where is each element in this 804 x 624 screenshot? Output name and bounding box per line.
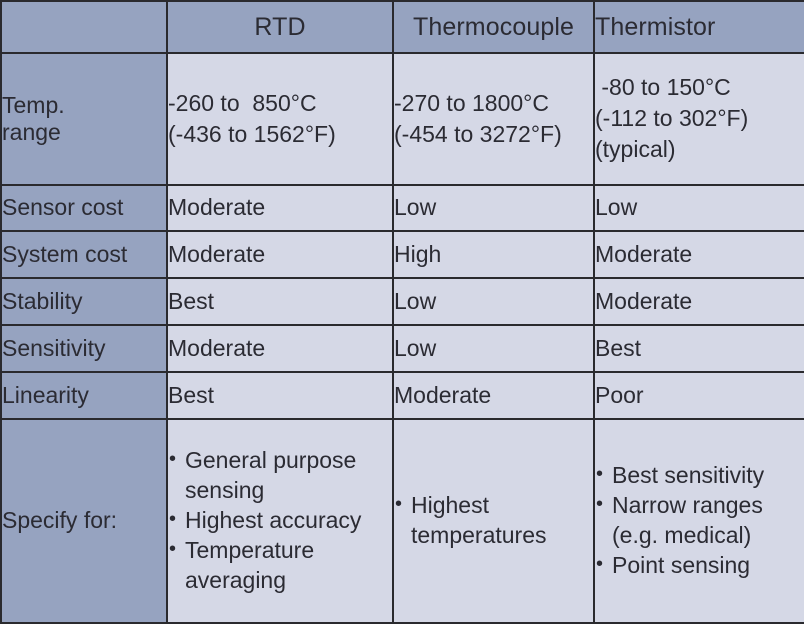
row-label-system-cost: System cost xyxy=(1,231,167,278)
table-row-specify-for: Specify for: General purpose sensingHigh… xyxy=(1,419,804,623)
bullet-item: Highest accuracy xyxy=(168,506,392,536)
table-row-linearity: Linearity Best Moderate Poor xyxy=(1,372,804,419)
header-cell-thermistor: Thermistor xyxy=(594,1,804,53)
temp-line-fahrenheit: (-436 to 1562°F) xyxy=(168,119,392,150)
cell-stability-thermocouple: Low xyxy=(393,278,594,325)
row-label-temp-range: Temp. range xyxy=(1,53,167,185)
bullet-item: Narrow ranges (e.g. medical) xyxy=(595,491,804,551)
row-label-sensitivity: Sensitivity xyxy=(1,325,167,372)
cell-linearity-thermistor: Poor xyxy=(594,372,804,419)
row-label-sensor-cost: Sensor cost xyxy=(1,185,167,232)
cell-sensor-cost-thermocouple: Low xyxy=(393,185,594,232)
cell-sensor-cost-thermistor: Low xyxy=(594,185,804,232)
bullet-item: Highest temperatures xyxy=(394,491,593,551)
cell-system-cost-thermocouple: High xyxy=(393,231,594,278)
table-row-temp-range: Temp. range -260 to 850°C (-436 to 1562°… xyxy=(1,53,804,185)
temp-line-fahrenheit: (-454 to 3272°F) xyxy=(394,119,593,150)
table-row-sensitivity: Sensitivity Moderate Low Best xyxy=(1,325,804,372)
temp-line-note: (typical) xyxy=(595,134,804,165)
bullet-item: General purpose sensing xyxy=(168,446,392,506)
row-label-linearity: Linearity xyxy=(1,372,167,419)
cell-stability-thermistor: Moderate xyxy=(594,278,804,325)
cell-sensitivity-thermocouple: Low xyxy=(393,325,594,372)
temp-line-celsius: -270 to 1800°C xyxy=(394,88,593,119)
cell-linearity-rtd: Best xyxy=(167,372,393,419)
cell-specify-for-thermistor: Best sensitivityNarrow ranges (e.g. medi… xyxy=(594,419,804,623)
cell-system-cost-rtd: Moderate xyxy=(167,231,393,278)
cell-sensor-cost-rtd: Moderate xyxy=(167,185,393,232)
sensor-comparison-table: RTD Thermocouple Thermistor Temp. range … xyxy=(0,0,804,624)
cell-stability-rtd: Best xyxy=(167,278,393,325)
header-cell-rtd: RTD xyxy=(167,1,393,53)
cell-sensitivity-thermistor: Best xyxy=(594,325,804,372)
temp-line-celsius: -260 to 850°C xyxy=(168,88,392,119)
bullet-item: Best sensitivity xyxy=(595,461,804,491)
header-cell-thermocouple: Thermocouple xyxy=(393,1,594,53)
row-label-stability: Stability xyxy=(1,278,167,325)
temp-line-celsius: -80 to 150°C xyxy=(595,72,804,103)
cell-temp-range-thermistor: -80 to 150°C (-112 to 302°F) (typical) xyxy=(594,53,804,185)
bullet-item: Point sensing xyxy=(595,551,804,581)
bullet-list-thermistor: Best sensitivityNarrow ranges (e.g. medi… xyxy=(595,461,804,581)
row-label-line-2: range xyxy=(2,119,166,146)
cell-system-cost-thermistor: Moderate xyxy=(594,231,804,278)
bullet-list-rtd: General purpose sensingHighest accuracyT… xyxy=(168,446,392,595)
header-cell-corner xyxy=(1,1,167,53)
cell-temp-range-thermocouple: -270 to 1800°C (-454 to 3272°F) xyxy=(393,53,594,185)
table-row-stability: Stability Best Low Moderate xyxy=(1,278,804,325)
bullet-item: Temperature averaging xyxy=(168,536,392,596)
row-label-specify-for: Specify for: xyxy=(1,419,167,623)
cell-linearity-thermocouple: Moderate xyxy=(393,372,594,419)
table-row-system-cost: System cost Moderate High Moderate xyxy=(1,231,804,278)
row-label-line-1: Temp. xyxy=(2,92,166,119)
cell-sensitivity-rtd: Moderate xyxy=(167,325,393,372)
table-header-row: RTD Thermocouple Thermistor xyxy=(1,1,804,53)
cell-temp-range-rtd: -260 to 850°C (-436 to 1562°F) xyxy=(167,53,393,185)
cell-specify-for-rtd: General purpose sensingHighest accuracyT… xyxy=(167,419,393,623)
table-row-sensor-cost: Sensor cost Moderate Low Low xyxy=(1,185,804,232)
bullet-list-thermocouple: Highest temperatures xyxy=(394,491,593,551)
temp-line-fahrenheit: (-112 to 302°F) xyxy=(595,103,804,134)
cell-specify-for-thermocouple: Highest temperatures xyxy=(393,419,594,623)
